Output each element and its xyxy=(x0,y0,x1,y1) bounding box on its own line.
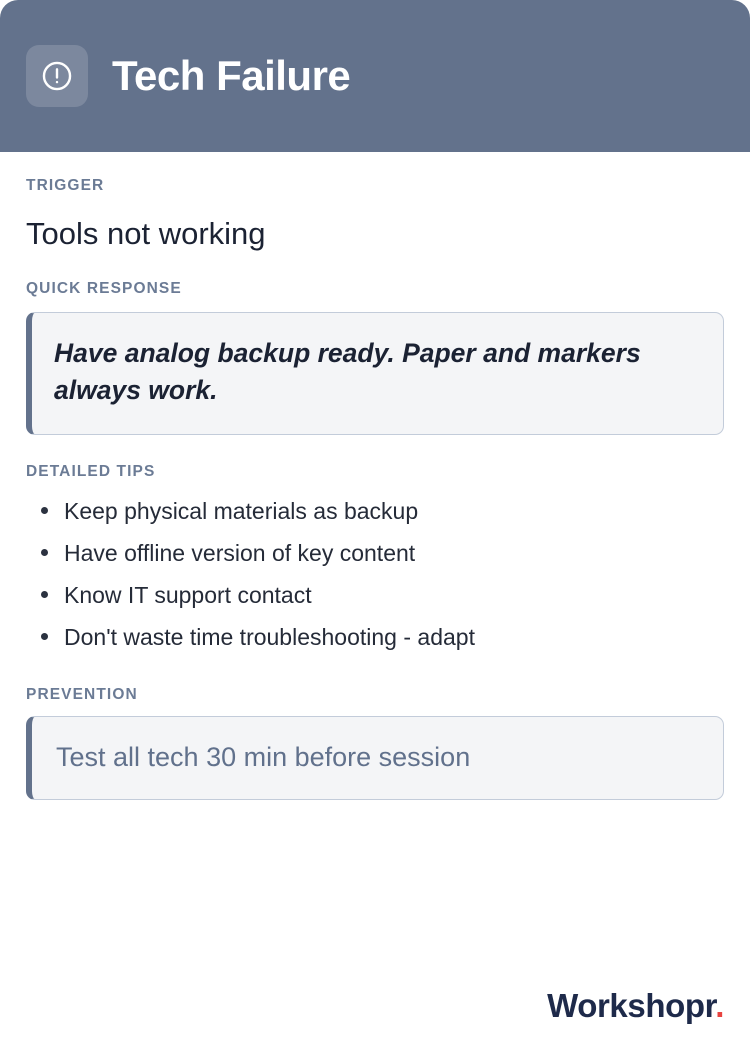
bullet-icon xyxy=(41,507,48,514)
list-item: Keep physical materials as backup xyxy=(64,491,724,533)
list-item-label: Keep physical materials as backup xyxy=(64,498,418,524)
brand-dot: . xyxy=(715,987,724,1024)
prevention-text: Test all tech 30 min before session xyxy=(56,741,699,773)
detailed-tips-label: DETAILED TIPS xyxy=(26,464,724,480)
bullet-icon xyxy=(41,633,48,640)
prevention-label: PREVENTION xyxy=(26,687,724,703)
prevention-callout: Test all tech 30 min before session xyxy=(26,716,724,799)
quick-response-label: QUICK RESPONSE xyxy=(26,281,724,297)
brand-logo: Workshopr. xyxy=(547,989,724,1022)
quick-response-callout: Have analog backup ready. Paper and mark… xyxy=(26,312,724,435)
list-item: Don't waste time troubleshooting - adapt xyxy=(64,617,724,659)
list-item: Have offline version of key content xyxy=(64,533,724,575)
bullet-icon xyxy=(41,591,48,598)
list-item-label: Don't waste time troubleshooting - adapt xyxy=(64,624,475,650)
card-footer: Workshopr. xyxy=(0,989,750,1050)
detailed-tips-list: Keep physical materials as backup Have o… xyxy=(26,491,724,658)
trigger-text: Tools not working xyxy=(26,216,724,252)
tech-failure-card: Tech Failure TRIGGER Tools not working Q… xyxy=(0,0,750,1050)
trigger-label: TRIGGER xyxy=(26,178,724,194)
card-body: TRIGGER Tools not working QUICK RESPONSE… xyxy=(0,152,750,989)
card-header: Tech Failure xyxy=(0,0,750,152)
bullet-icon xyxy=(41,549,48,556)
list-item-label: Know IT support contact xyxy=(64,582,312,608)
quick-response-text: Have analog backup ready. Paper and mark… xyxy=(54,335,699,410)
list-item: Know IT support contact xyxy=(64,575,724,617)
brand-name: Workshopr xyxy=(547,987,715,1024)
page-title: Tech Failure xyxy=(112,55,350,97)
list-item-label: Have offline version of key content xyxy=(64,540,415,566)
alert-circle-icon xyxy=(26,45,88,107)
